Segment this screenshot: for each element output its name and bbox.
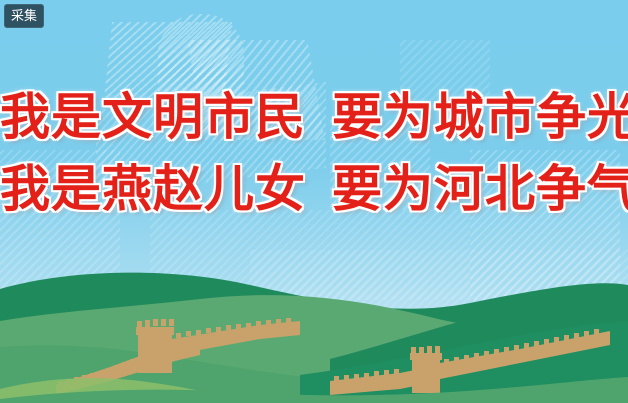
hills-illustration (0, 263, 628, 403)
slogan-line-1-left: 我是文明市民 (0, 88, 306, 146)
capture-button[interactable]: 采集 (4, 4, 44, 28)
slogan-line-2: 我是燕赵儿女要为河北争气 (0, 164, 628, 214)
slogan-line-1: 我是文明市民要为城市争光 (0, 92, 628, 142)
slogan-line-2-right: 要为河北争气 (332, 160, 628, 218)
slogan-line-1-right: 要为城市争光 (332, 88, 628, 146)
banner-screenshot: 我是文明市民要为城市争光 我是燕赵儿女要为河北争气 采集 (0, 0, 628, 403)
slogan-block: 我是文明市民要为城市争光 我是燕赵儿女要为河北争气 (0, 92, 628, 214)
slogan-line-2-left: 我是燕赵儿女 (0, 160, 306, 218)
